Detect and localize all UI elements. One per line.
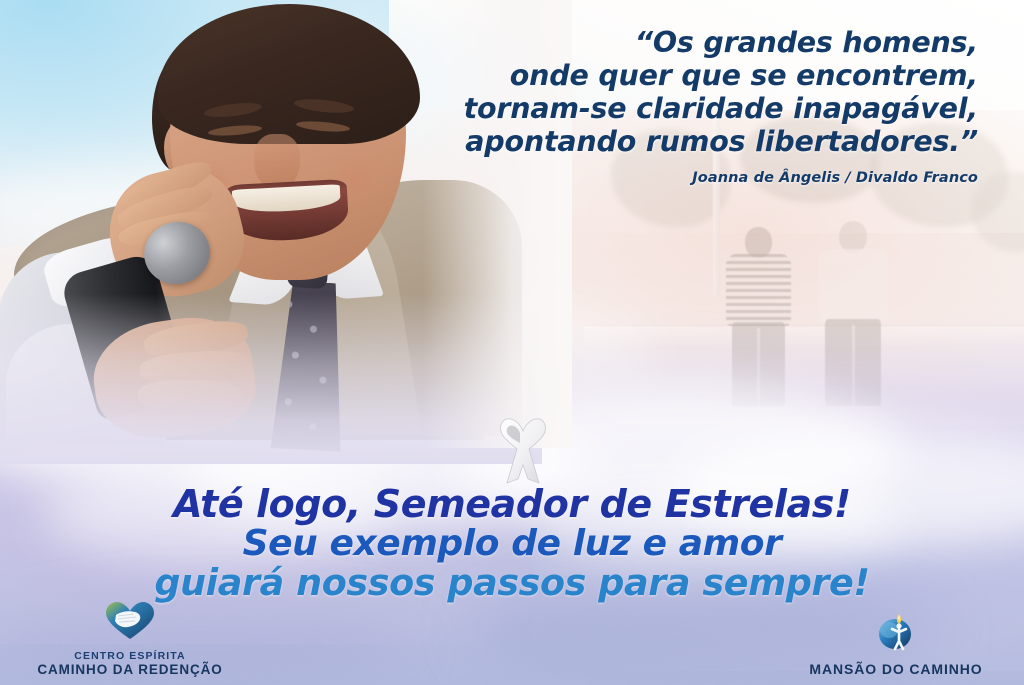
scene-person-torso — [726, 254, 791, 326]
quote-attribution: Joanna de Ângelis / Divaldo Franco — [358, 170, 978, 186]
scene-person-torso — [819, 249, 888, 323]
headline-line-2: Seu exemplo de luz e amor — [0, 524, 1024, 563]
logo-left-line-1: CENTRO ESPÍRITA — [10, 650, 250, 662]
portrait-teeth — [232, 184, 340, 214]
mourning-ribbon-icon — [487, 409, 559, 487]
headline-block: Até logo, Semeador de Estrelas! Seu exem… — [0, 484, 1024, 603]
quote-line-4: apontando rumos libertadores.” — [358, 125, 978, 158]
headline-line-1: Até logo, Semeador de Estrelas! — [0, 484, 1024, 524]
logo-left-line-2: CAMINHO DA REDENÇÃO — [10, 662, 250, 677]
logo-right-line-1: MANSÃO DO CAMINHO — [776, 661, 1016, 677]
heart-hands-icon — [10, 601, 250, 646]
scene-person-head — [839, 221, 867, 252]
quote-line-3: tornam-se claridade inapagável, — [358, 92, 978, 125]
quote-line-2: onde quer que se encontrem, — [358, 59, 978, 92]
headline-line-3: guiará nossos passos para sempre! — [0, 563, 1024, 603]
globe-figure-flame-icon — [776, 610, 1016, 657]
logo-centro-espirita[interactable]: CENTRO ESPÍRITA CAMINHO DA REDENÇÃO — [10, 601, 250, 677]
quote-block: “Os grandes homens, onde quer que se enc… — [358, 26, 978, 186]
quote-line-1: “Os grandes homens, — [358, 26, 978, 59]
memorial-poster: “Os grandes homens, onde quer que se enc… — [0, 0, 1024, 685]
logo-mansao-do-caminho[interactable]: MANSÃO DO CAMINHO — [776, 610, 1016, 677]
